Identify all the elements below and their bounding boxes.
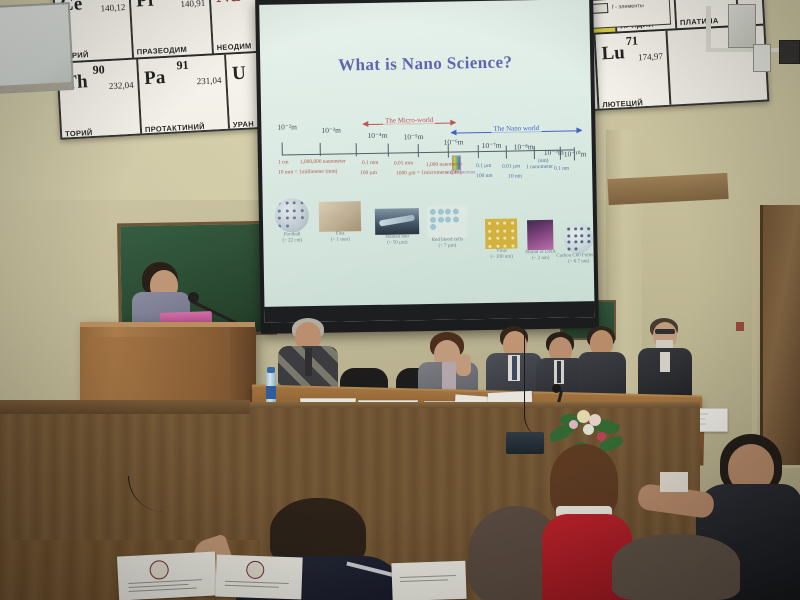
axis-tick-3 (388, 144, 389, 157)
axis-tick-7 (506, 146, 507, 159)
scale-label-top-6: 0.01 µm (502, 163, 520, 169)
element-symbol: Pa (144, 67, 166, 90)
wall-speaker-icon (779, 40, 800, 64)
thumbnail-size: (~ 50 µm) (387, 241, 407, 246)
micro-world-arrow: The Micro-world (363, 118, 455, 130)
micro-world-label: The Micro-world (383, 116, 436, 125)
axis-tick-0 (282, 143, 283, 156)
axis-exponent-2: 10⁻⁴m (367, 131, 387, 140)
thumbnail-image (563, 223, 594, 254)
nano-world-label: The Nano world (491, 124, 541, 133)
element-cell-Pr: 59Pr140,91ПРАЗЕОДИМ (130, 0, 214, 58)
av-equipment-box (506, 432, 544, 454)
thumbnail-name: Carbon C60 Fullerene (556, 253, 594, 259)
audience-member-bottom-right (612, 534, 740, 600)
scale-label-bottom-1: 100 µm (360, 170, 377, 176)
thumbnail-human-hair: Human hair(~ 50 µm) (375, 208, 419, 235)
wall-conduit-vertical (706, 6, 711, 50)
thumbnail-caption: Virus(~ 100 nm) (490, 249, 513, 262)
wall-board-left (0, 2, 74, 94)
wall-outlet-icon (736, 322, 744, 331)
scale-label-top-1: 1,000,000 nanometer (300, 158, 346, 165)
thumbnail-name: Strand of DNA (525, 250, 556, 256)
thumbnail-name: Human hair (385, 234, 409, 239)
element-symbol: Nd (215, 0, 240, 8)
lower-wall-rail (0, 400, 250, 414)
legend-label: f - элементы (612, 3, 644, 11)
thumbnail-size: (~ 2 nm) (532, 256, 550, 261)
scale-label-top-4: 1,000 nanometer (426, 161, 462, 168)
axis-exponent-3: 10⁻⁵m (403, 132, 423, 141)
slide-title: What is Nano Science? (260, 51, 590, 77)
thumbnail-image (275, 198, 310, 233)
program-document (117, 551, 217, 600)
lecture-hall-photo: 58Ce140,12ЦЕРИЙ59Pr140,91ПРАЗЕОДИМ60Nd14… (0, 0, 800, 600)
thumbnail-caption: Carbon C60 Fullerene(~ 0.7 nm) (556, 253, 594, 266)
thumbnail-size: (~ 100 nm) (490, 255, 513, 260)
element-symbol: Lu (601, 42, 625, 65)
thumbnail-flea: Flea(~ 1 mm) (319, 201, 362, 232)
axis-exponent-0: 10⁻²m (277, 122, 297, 131)
thumbnail-size: (~ 0.7 nm) (568, 259, 589, 264)
scale-label-bottom-2: 1000 µm = 1micrometer (µm) (396, 169, 461, 176)
axis-tick-2 (356, 143, 357, 156)
atomic-mass: 231,04 (196, 75, 221, 86)
element-cell-Pa: 91Pa231,04ПРОТАКТИНИЙ (138, 55, 230, 136)
nano-scale-axis: 10⁻²m10⁻³m10⁻⁴m10⁻⁵m10⁻⁶m10⁻⁷m10⁻⁸m10⁻⁹m… (275, 107, 578, 182)
element-symbol: Pr (135, 0, 156, 12)
projection-screen: What is Nano Science? 10⁻²m10⁻³m10⁻⁴m10⁻… (259, 0, 594, 323)
door (760, 205, 800, 465)
thumbnail-name: Red blood cells (432, 237, 463, 243)
axis-exponent-7: 10⁻⁹m (544, 148, 564, 157)
element-name-ru: УРАН (233, 119, 255, 129)
scale-label-top-0: 1 cm (278, 159, 289, 165)
axis-tick-1 (320, 143, 321, 156)
scale-label-bottom-5: (nm) (538, 158, 549, 164)
axis-exponent-4: 10⁻⁶m (444, 137, 464, 146)
element-name-ru: ЛЮТЕЦИЙ (602, 98, 643, 109)
wall-electrical-panel (728, 4, 756, 48)
thumbnail-caption: Red blood cells(~ 7 µm) (432, 237, 463, 250)
axis-exponent-5: 10⁻⁷m (482, 141, 502, 150)
panelist-5 (578, 326, 628, 400)
thumbnail-caption: Strand of DNA(~ 2 nm) (525, 250, 556, 263)
atomic-mass: 140,12 (100, 2, 125, 13)
thumbnail-image (527, 220, 554, 250)
nano-world-arrow: The Nano world (451, 125, 581, 137)
element-name-ru: ПРОТАКТИНИЙ (145, 122, 205, 134)
thumbnail-caption: Football(~ 22 cm) (282, 232, 302, 245)
atomic-mass: 174,97 (638, 51, 663, 62)
atomic-number: 71 (626, 33, 639, 49)
projection-screen-frame: What is Nano Science? 10⁻²m10⁻³m10⁻⁴m10⁻… (255, 0, 599, 334)
thumbnail-image (375, 208, 419, 235)
scale-label-top-3: 0.01 mm (394, 160, 413, 166)
axis-tick-8 (534, 146, 535, 159)
axis-tick-4 (418, 144, 419, 157)
axis-tick-6 (478, 145, 479, 158)
program-document (215, 555, 302, 600)
thumbnail-name: Football (284, 232, 301, 237)
thumbnail-name: Virus (496, 249, 507, 254)
thumbnail-carbon-c60-fullerene: Carbon C60 Fullerene(~ 0.7 nm) (563, 223, 594, 254)
atomic-number: 91 (176, 58, 189, 74)
atomic-mass: 232,04 (109, 80, 134, 91)
scale-label-top-8: 0.1 nm (554, 166, 569, 172)
thumbnail-caption: Flea(~ 1 mm) (331, 231, 350, 244)
scale-label-bottom-0: 10 mm = 1millimeter (mm) (278, 169, 337, 176)
wall-switch-panel (753, 44, 771, 72)
thumbnail-image (485, 218, 518, 249)
thumbnail-virus: Virus(~ 100 nm) (485, 218, 518, 249)
axis-exponent-6: 10⁻⁸m (514, 142, 534, 151)
thumbnail-name: Flea (336, 231, 345, 236)
microphone-icon (188, 292, 199, 303)
element-symbol: U (232, 63, 247, 86)
scale-label-top-2: 0.1 mm (362, 160, 379, 166)
thumbnail-red-blood-cells: Red blood cells(~ 7 µm) (427, 205, 468, 238)
program-document (391, 561, 466, 600)
thumbnail-size: (~ 7 µm) (438, 244, 456, 249)
thumbnail-caption: Human hair(~ 50 µm) (385, 234, 409, 247)
scale-label-bottom-4: 10 nm (508, 173, 522, 179)
thumbnail-football: Football(~ 22 cm) (275, 198, 310, 233)
atomic-number: 90 (92, 62, 105, 78)
scale-label-top-5: 0.1 µm (476, 163, 491, 169)
scale-label-bottom-3: 100 nm (476, 173, 492, 179)
thumbnail-size: (~ 1 mm) (331, 238, 350, 243)
thumbnail-strand-of-dna: Strand of DNA(~ 2 nm) (527, 220, 554, 250)
panelist-6-bearded (638, 318, 694, 398)
element-name-ru: ТОРИЙ (65, 128, 93, 138)
element-cell-Lu: 71Lu174,97ЛЮТЕЦИЙ (596, 31, 672, 111)
scale-label-top-7: 1 nanometer (526, 164, 553, 170)
thumbnail-size: (~ 22 cm) (282, 238, 302, 243)
scale-thumbnails: Football(~ 22 cm)Flea(~ 1 mm)Human hair(… (271, 189, 588, 267)
axis-exponent-8: 10⁻¹⁰m (564, 149, 587, 158)
thumbnail-image (319, 201, 362, 232)
atomic-mass: 140,91 (180, 0, 205, 9)
thumbnail-image (427, 205, 468, 238)
axis-exponent-1: 10⁻³m (321, 125, 341, 134)
